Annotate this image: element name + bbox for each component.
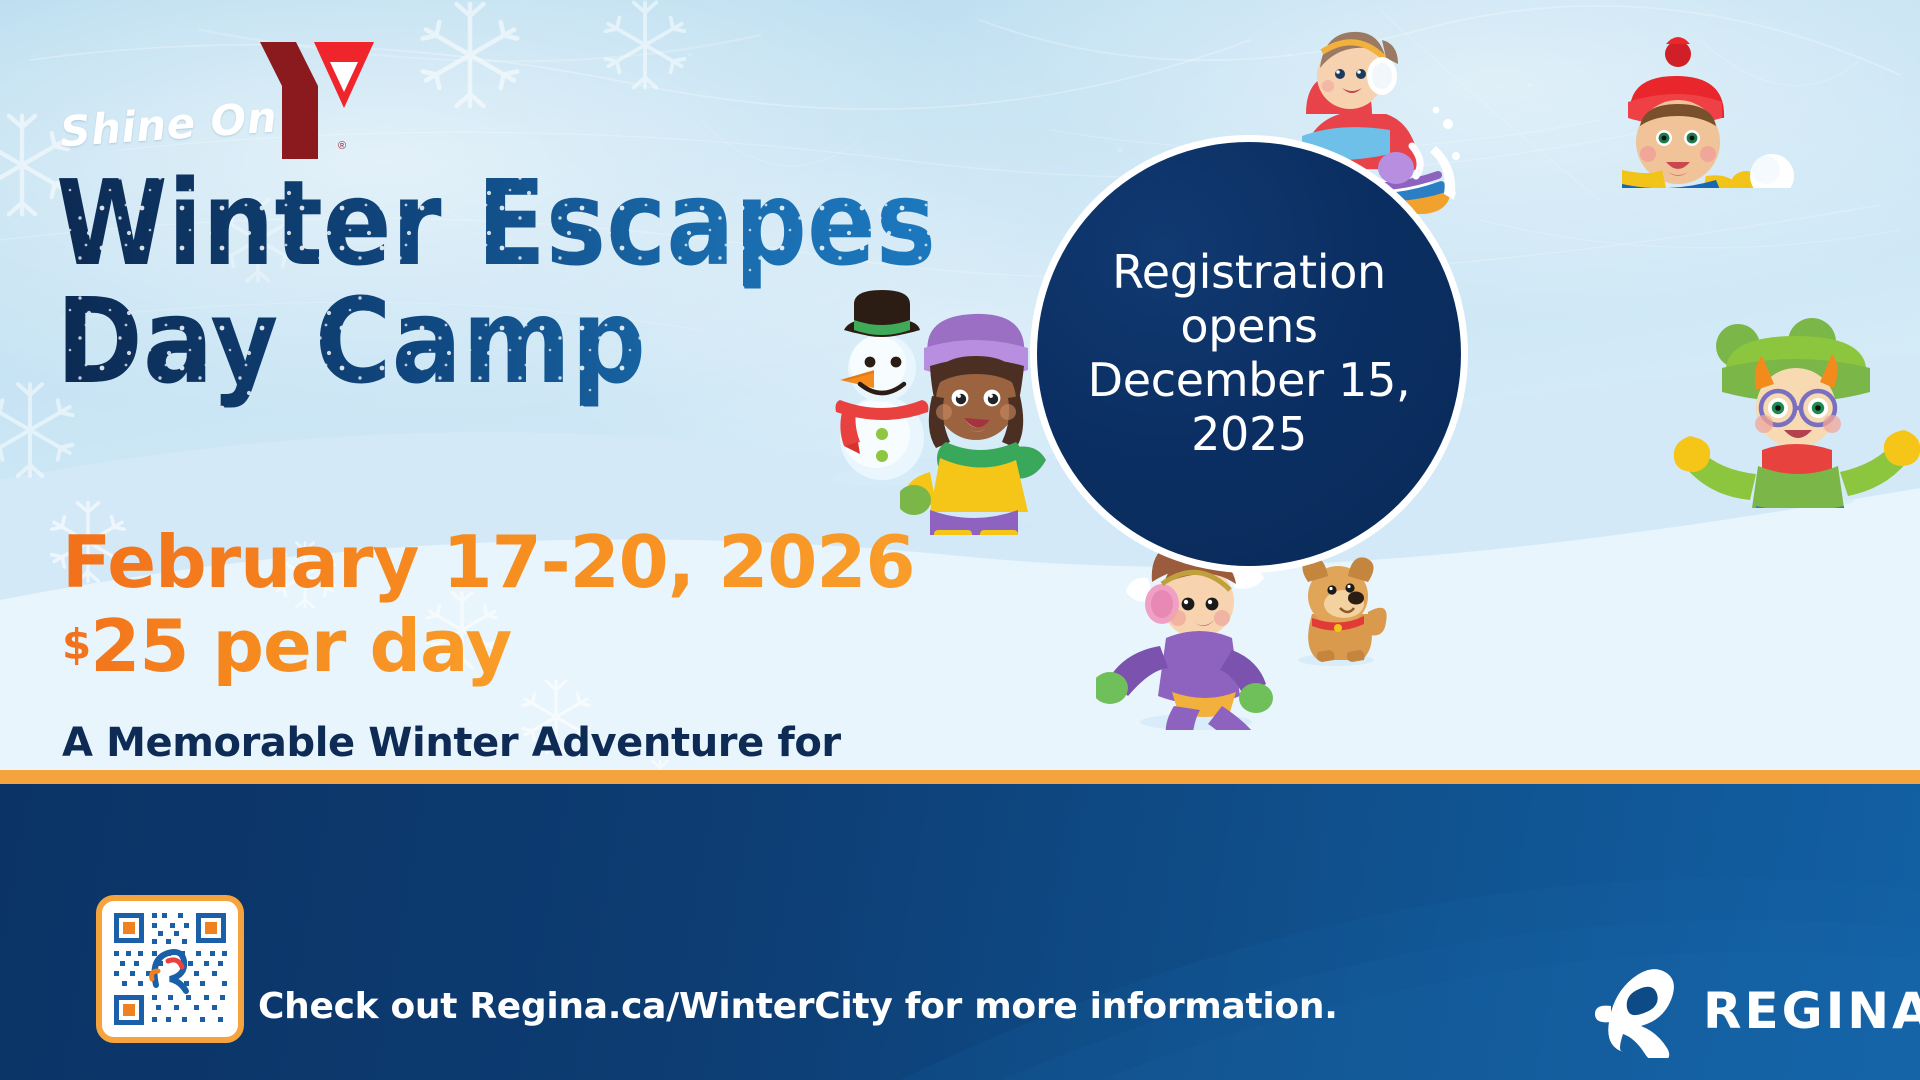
- footer-orange-stripe: [0, 770, 1920, 784]
- ymca-y-logo-icon: [256, 38, 376, 163]
- footer-cta-text: Check out Regina.ca/WinterCity for more …: [258, 986, 1338, 1027]
- camp-dates: February 17-20, 2026: [62, 520, 915, 604]
- price-amount: 25 per day: [90, 604, 511, 688]
- registration-text: Registration opens December 15, 2025: [1064, 246, 1434, 461]
- regina-r-icon: [1593, 964, 1685, 1058]
- girl-purple-hat-illustration: [900, 300, 1050, 535]
- qr-code[interactable]: [96, 895, 244, 1043]
- regina-wordmark: REGINA: [1703, 982, 1920, 1040]
- boy-green-hat-illustration: [1672, 268, 1920, 508]
- regina-city-logo: REGINA: [1593, 964, 1920, 1058]
- camp-price: $25 per day: [62, 604, 511, 688]
- qr-code-icon[interactable]: [108, 907, 232, 1031]
- dog-illustration: [1282, 556, 1392, 666]
- shine-on-tagline: Shine On: [59, 92, 279, 156]
- snowball-boy-illustration: [1622, 18, 1842, 188]
- price-currency-symbol: $: [62, 620, 90, 669]
- registration-badge: Registration opens December 15, 2025: [1037, 142, 1461, 566]
- ymca-logo-block: Shine On ®: [56, 22, 376, 162]
- poster-canvas: Shine On ®: [0, 0, 1920, 1080]
- trademark-symbol: ®: [338, 140, 346, 152]
